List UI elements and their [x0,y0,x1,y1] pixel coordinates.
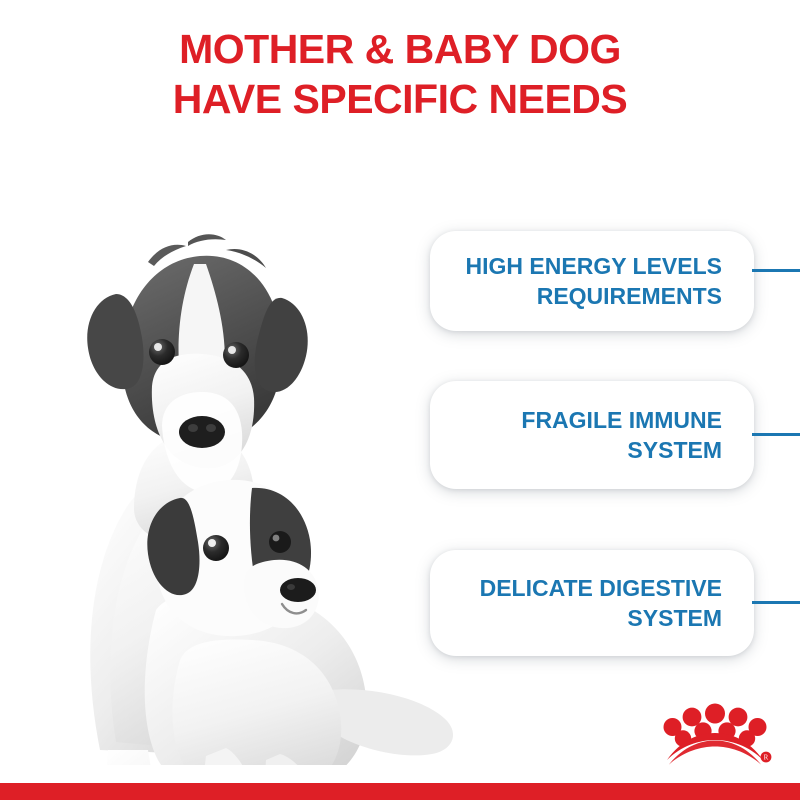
page-title-line-2: HAVE SPECIFIC NEEDS [0,74,800,124]
callout-high-energy-label: HIGH ENERGY LEVELS REQUIREMENTS [466,251,722,311]
promo-infographic: MOTHER & BABY DOG HAVE SPECIFIC NEEDS [0,0,800,800]
registered-trademark-icon: R [761,752,772,763]
callout-fragile-immune-label: FRAGILE IMMUNE SYSTEM [521,405,722,465]
connector-line-3 [752,601,800,604]
svg-text:R: R [764,754,769,762]
connector-line-1 [752,269,800,272]
connector-line-2 [752,433,800,436]
bottom-accent-bar [0,783,800,800]
callout-high-energy: HIGH ENERGY LEVELS REQUIREMENTS [430,231,754,331]
royal-canin-crown-logo: R [655,700,775,770]
callout-fragile-immune: FRAGILE IMMUNE SYSTEM [430,381,754,489]
callout-delicate-digestive: DELICATE DIGESTIVE SYSTEM [430,550,754,656]
callout-delicate-digestive-label: DELICATE DIGESTIVE SYSTEM [480,573,722,633]
dog-photo [30,190,460,765]
page-title: MOTHER & BABY DOG HAVE SPECIFIC NEEDS [0,24,800,124]
page-title-line-1: MOTHER & BABY DOG [0,24,800,74]
